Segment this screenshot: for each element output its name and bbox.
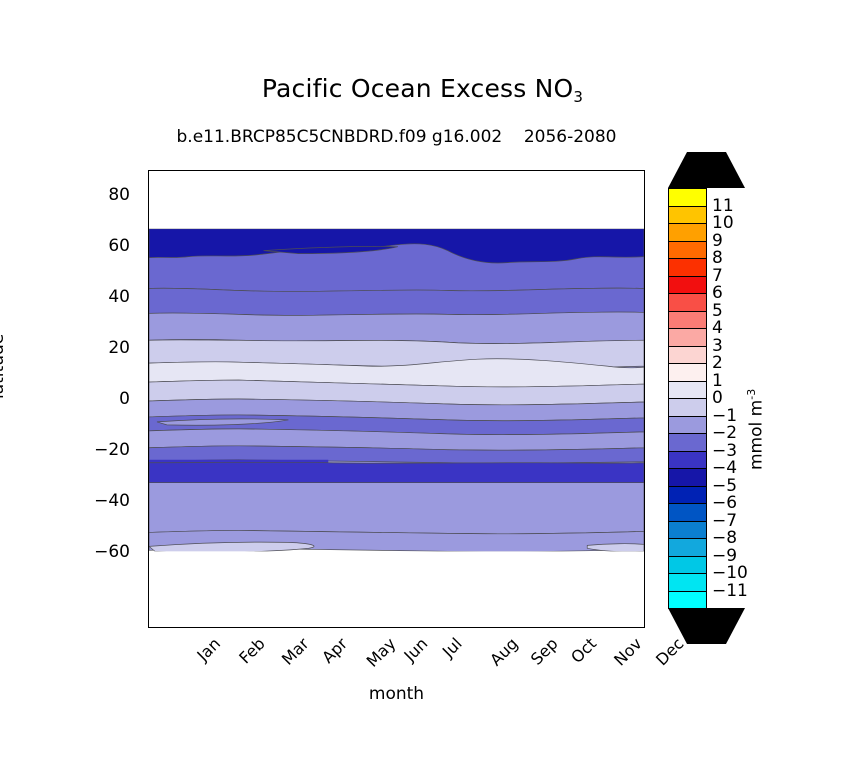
- xtick-top-may: [335, 170, 336, 171]
- contour-field: [149, 171, 644, 627]
- colorbar-tick--11: −11: [712, 581, 748, 601]
- contour-plot-axes: [148, 170, 645, 628]
- colorbar-segment: [668, 538, 707, 556]
- figure-canvas: Pacific Ocean Excess NO3 b.e11.BRCP85C5C…: [0, 0, 845, 783]
- colorbar-segment: [668, 258, 707, 276]
- ylabel-40: 40: [108, 287, 130, 307]
- figure-subtitle: b.e11.BRCP85C5CNBDRD.f09 g16.002 2056-20…: [148, 127, 645, 147]
- ylabel-m40: −40: [94, 491, 130, 511]
- colorbar: [668, 188, 707, 608]
- xtick-top-jul: [418, 170, 419, 171]
- x-axis-ticklabels: Jan Feb Mar Apr May Jun Jul Aug Sep Oct …: [148, 628, 645, 688]
- colorbar-segment: [668, 556, 707, 574]
- ytick-right-60: [644, 247, 645, 248]
- colorbar-segment: [668, 241, 707, 259]
- colorbar-segment: [668, 293, 707, 311]
- xlabel-jun: Jun: [400, 634, 431, 665]
- ytick-right-80: [644, 196, 645, 197]
- xlabel-sep: Sep: [527, 634, 562, 669]
- ytick-right-m60: [644, 553, 645, 554]
- figure-title-subscript: 3: [573, 88, 583, 106]
- colorbar-under-arrow-icon: [668, 608, 745, 644]
- xtick-top-dec: [625, 170, 626, 171]
- colorbar-segment: [668, 591, 707, 609]
- ytick-right-m20: [644, 451, 645, 452]
- colorbar-segment: [668, 503, 707, 521]
- colorbar-segment: [668, 276, 707, 294]
- xlabel-jan: Jan: [193, 634, 224, 665]
- ytick-m20: [148, 451, 149, 452]
- xlabel-apr: Apr: [318, 634, 351, 667]
- y-axis-title: latitude: [0, 334, 8, 399]
- xtick-top-oct: [542, 170, 543, 171]
- xtick-top-jun: [377, 170, 378, 171]
- ytick-40: [148, 298, 149, 299]
- colorbar-segment: [668, 468, 707, 486]
- figure-title-text: Pacific Ocean Excess NO: [262, 74, 574, 103]
- colorbar-segment: [668, 223, 707, 241]
- ytick-right-m40: [644, 502, 645, 503]
- xtick-top-aug: [460, 170, 461, 171]
- colorbar-segment: [668, 381, 707, 399]
- colorbar-segment: [668, 363, 707, 381]
- colorbar-segment: [668, 188, 707, 206]
- x-axis-title: month: [148, 684, 645, 704]
- xlabel-oct: Oct: [567, 634, 600, 667]
- ytick-right-40: [644, 298, 645, 299]
- xtick-top-feb: [211, 170, 212, 171]
- xtick-top-sep: [501, 170, 502, 171]
- ytick-m60: [148, 553, 149, 554]
- xlabel-nov: Nov: [610, 634, 646, 670]
- xlabel-jul: Jul: [439, 634, 466, 661]
- ylabel-0: 0: [119, 389, 130, 409]
- ytick-60: [148, 247, 149, 248]
- colorbar-segment: [668, 521, 707, 539]
- colorbar-segment: [668, 311, 707, 329]
- colorbar-title: mmol m-3: [745, 389, 767, 470]
- xtick-top-nov: [584, 170, 585, 171]
- xlabel-mar: Mar: [278, 634, 313, 669]
- ytick-20: [148, 349, 149, 350]
- colorbar-segment: [668, 206, 707, 224]
- colorbar-segment: [668, 451, 707, 469]
- colorbar-segment: [668, 433, 707, 451]
- colorbar-segment: [668, 573, 707, 591]
- figure-title: Pacific Ocean Excess NO3: [0, 74, 845, 103]
- xtick-top-apr: [294, 170, 295, 171]
- ylabel-m20: −20: [94, 440, 130, 460]
- colorbar-unit-exponent: -3: [745, 389, 758, 400]
- xtick-top-mar: [253, 170, 254, 171]
- ytick-right-0: [644, 400, 645, 401]
- ytick-m40: [148, 502, 149, 503]
- colorbar-segment: [668, 346, 707, 364]
- xtick-top-jan: [170, 170, 171, 171]
- ylabel-20: 20: [108, 338, 130, 358]
- xlabel-aug: Aug: [486, 634, 522, 670]
- xlabel-may: May: [363, 634, 400, 671]
- ylabel-m60: −60: [94, 542, 130, 562]
- ylabel-80: 80: [108, 185, 130, 205]
- colorbar-segment: [668, 486, 707, 504]
- colorbar-over-arrow-icon: [668, 152, 745, 188]
- ytick-80: [148, 196, 149, 197]
- colorbar-unit: mmol m: [747, 400, 767, 470]
- ylabel-60: 60: [108, 236, 130, 256]
- colorbar-segment: [668, 328, 707, 346]
- ytick-0: [148, 400, 149, 401]
- colorbar-segment: [668, 398, 707, 416]
- xlabel-feb: Feb: [235, 634, 268, 667]
- y-axis-ticklabels: 80 60 40 20 0 −20 −40 −60: [0, 170, 140, 628]
- colorbar-segment: [668, 416, 707, 434]
- ytick-right-20: [644, 349, 645, 350]
